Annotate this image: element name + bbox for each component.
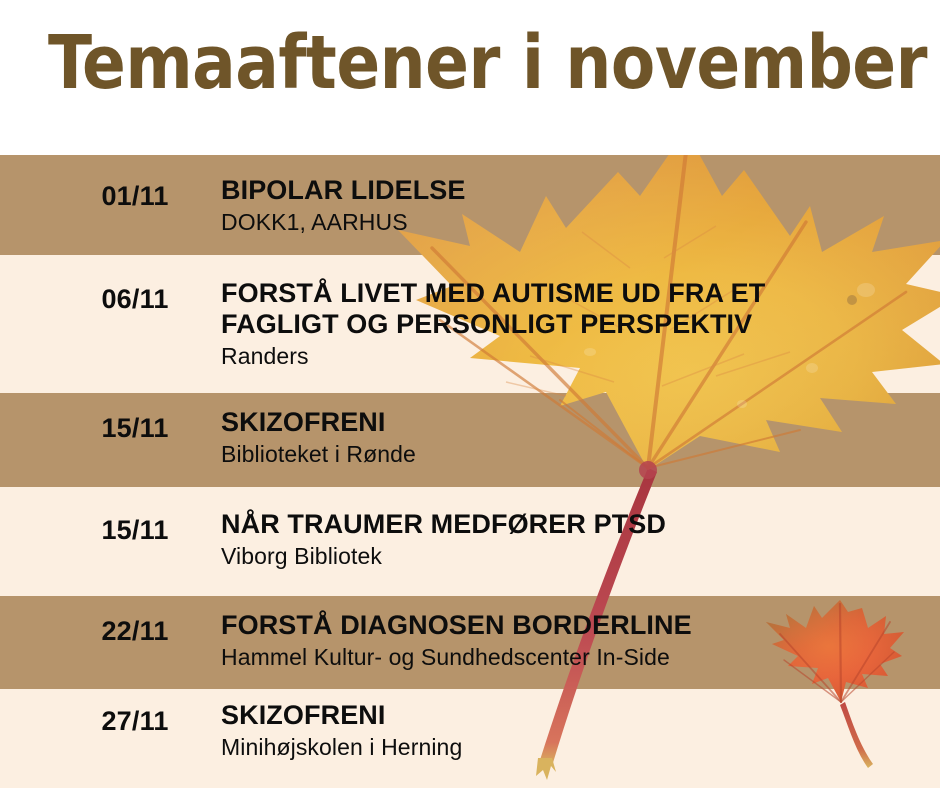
event-title: SKIZOFRENI <box>221 700 930 731</box>
event-date: 01/11 <box>60 181 210 212</box>
schedule-row[interactable]: 27/11 SKIZOFRENI Minihøjskolen i Herning <box>0 689 940 788</box>
event-details: FORSTÅ DIAGNOSEN BORDERLINE Hammel Kultu… <box>221 610 930 670</box>
schedule-row[interactable]: 06/11 FORSTÅ LIVET MED AUTISME UD FRA ET… <box>0 255 940 393</box>
event-title: FORSTÅ DIAGNOSEN BORDERLINE <box>221 610 930 641</box>
schedule-row[interactable]: 15/11 SKIZOFRENI Biblioteket i Rønde <box>0 393 940 487</box>
schedule-row[interactable]: 01/11 BIPOLAR LIDELSE DOKK1, AARHUS <box>0 155 940 255</box>
schedule-row[interactable]: 15/11 NÅR TRAUMER MEDFØRER PTSD Viborg B… <box>0 487 940 596</box>
event-date: 22/11 <box>60 616 210 647</box>
event-details: SKIZOFRENI Minihøjskolen i Herning <box>221 700 930 760</box>
poster-header: Temaaftener i november <box>0 0 940 155</box>
event-venue: Minihøjskolen i Herning <box>221 734 930 760</box>
event-venue: Viborg Bibliotek <box>221 543 930 569</box>
event-date: 15/11 <box>60 515 210 546</box>
event-date: 06/11 <box>60 284 210 315</box>
event-venue: DOKK1, AARHUS <box>221 209 930 235</box>
event-details: NÅR TRAUMER MEDFØRER PTSD Viborg Bibliot… <box>221 509 930 569</box>
event-title: SKIZOFRENI <box>221 407 930 438</box>
event-venue: Biblioteket i Rønde <box>221 441 930 467</box>
event-date: 27/11 <box>60 706 210 737</box>
event-details: BIPOLAR LIDELSE DOKK1, AARHUS <box>221 175 930 235</box>
event-date: 15/11 <box>60 413 210 444</box>
page-title: Temaaftener i november <box>48 26 927 100</box>
event-title-line-2: FAGLIGT OG PERSONLIGT PERSPEKTIV <box>221 309 930 340</box>
event-venue: Randers <box>221 343 930 369</box>
poster-canvas: Temaaftener i november 01/11 BIPOLAR LID… <box>0 0 940 788</box>
event-venue: Hammel Kultur- og Sundhedscenter In-Side <box>221 644 930 670</box>
event-details: FORSTÅ LIVET MED AUTISME UD FRA ET FAGLI… <box>221 278 930 369</box>
schedule-row[interactable]: 22/11 FORSTÅ DIAGNOSEN BORDERLINE Hammel… <box>0 596 940 689</box>
event-title: NÅR TRAUMER MEDFØRER PTSD <box>221 509 930 540</box>
event-details: SKIZOFRENI Biblioteket i Rønde <box>221 407 930 467</box>
event-title: BIPOLAR LIDELSE <box>221 175 930 206</box>
event-title: FORSTÅ LIVET MED AUTISME UD FRA ET <box>221 278 930 309</box>
